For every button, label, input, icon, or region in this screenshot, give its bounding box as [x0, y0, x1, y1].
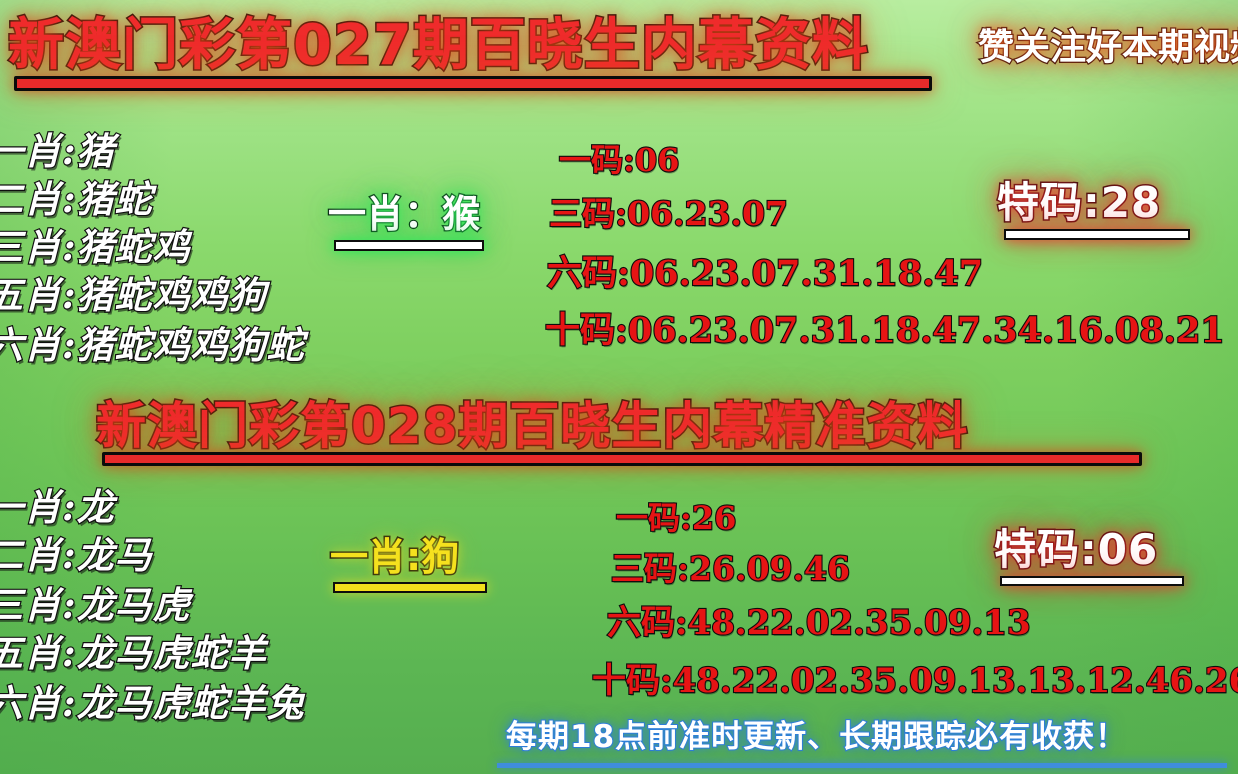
section2-code-row-3: 六码:48.22.02.35.09.13 — [607, 603, 1031, 644]
section2-special-number: 特码:06 — [994, 525, 1158, 575]
poster-canvas: 新澳门彩第027期百晓生内幕资料 赞关注好本期视频 一肖:猪 二肖:猪蛇 三肖:… — [0, 0, 1238, 774]
section1-zodiac-row-4: 五肖:猪蛇鸡鸡狗 — [0, 273, 267, 317]
section1-zodiac-row-2: 二肖:猪蛇 — [0, 177, 153, 221]
section1-zodiac-row-3: 三肖:猪蛇鸡 — [0, 225, 191, 269]
section1-code-row-1: 一码:06 — [559, 141, 679, 179]
section2-pick-label: 一肖:狗 — [330, 534, 459, 580]
section1-promo-text: 赞关注好本期视频 — [978, 26, 1238, 70]
section1-special-underline — [1004, 229, 1190, 240]
section1-pick-underline — [334, 240, 484, 251]
footer-underline — [497, 763, 1227, 768]
section2-zodiac-row-4: 五肖:龙马虎蛇羊 — [0, 631, 267, 675]
section2-code-row-1: 一码:26 — [616, 499, 736, 537]
section2-special-underline — [1000, 576, 1184, 586]
section2-zodiac-row-5: 六肖:龙马虎蛇羊兔 — [0, 681, 305, 725]
section2-zodiac-row-3: 三肖:龙马虎 — [0, 583, 191, 627]
section1-pick-label: 一肖：猴 — [328, 191, 480, 237]
section1-special-number: 特码:28 — [997, 178, 1161, 228]
section1-code-row-2: 三码:06.23.07 — [549, 194, 788, 234]
section1-title: 新澳门彩第027期百晓生内幕资料 — [8, 14, 869, 78]
section2-code-row-4: 十码:48.22.02.35.09.13.13.12.46.26.03 — [592, 661, 1238, 702]
section2-pick-underline — [333, 582, 487, 593]
section2-title: 新澳门彩第028期百晓生内幕精准资料 — [96, 397, 968, 455]
section2-zodiac-row-2: 二肖:龙马 — [0, 533, 153, 577]
section1-code-row-4: 十码:06.23.07.31.18.47.34.16.08.21 — [545, 310, 1225, 352]
section2-title-underline — [102, 452, 1142, 466]
section1-zodiac-row-5: 六肖:猪蛇鸡鸡狗蛇 — [0, 323, 305, 367]
footer-note: 每期18点前准时更新、长期跟踪必有收获！ — [506, 718, 1127, 756]
section1-title-underline — [14, 76, 932, 91]
section1-code-row-3: 六码:06.23.07.31.18.47 — [547, 253, 983, 295]
section2-code-row-2: 三码:26.09.46 — [611, 549, 850, 589]
section1-zodiac-row-1: 一肖:猪 — [0, 129, 115, 173]
section2-zodiac-row-1: 一肖:龙 — [0, 485, 115, 529]
